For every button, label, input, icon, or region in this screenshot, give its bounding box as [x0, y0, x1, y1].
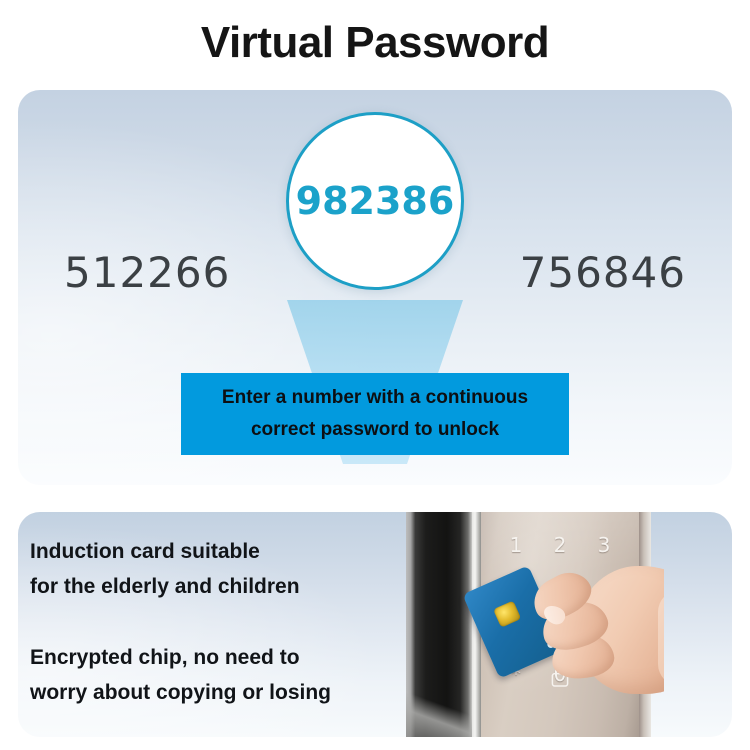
feature-2-line-1: Encrypted chip, no need to	[30, 640, 380, 675]
virtual-password-panel: 512266 756846 982386 Enter a number with…	[18, 90, 732, 485]
keypad-key-2[interactable]: 2	[538, 534, 582, 556]
keypad-key-3[interactable]: 3	[582, 534, 626, 556]
smart-lock-photo: 1 2 3 4 5 6 7 8 9 * 0	[406, 512, 664, 737]
wrist	[658, 590, 664, 686]
password-left-number: 512266	[64, 248, 230, 297]
instruction-line-2: correct password to unlock	[251, 414, 499, 446]
feature-encrypted-chip: Encrypted chip, no need to worry about c…	[30, 640, 380, 710]
password-center-number: 982386	[296, 179, 455, 223]
keypad-key-1[interactable]: 1	[494, 534, 538, 556]
lock-side-bezel	[406, 512, 472, 737]
chip-icon	[493, 600, 521, 627]
page-title: Virtual Password	[0, 16, 750, 70]
password-right-number: 756846	[520, 248, 686, 297]
feature-1-line-2: for the elderly and children	[30, 569, 380, 604]
password-highlight-circle: 982386	[286, 112, 464, 290]
induction-card-panel: Induction card suitable for the elderly …	[18, 512, 732, 737]
feature-2-line-2: worry about copying or losing	[30, 675, 380, 710]
feature-induction-card: Induction card suitable for the elderly …	[30, 534, 380, 604]
hand-holding-card	[526, 556, 664, 706]
instruction-banner: Enter a number with a continuous correct…	[181, 373, 569, 455]
instruction-line-1: Enter a number with a continuous	[222, 382, 528, 414]
feature-1-line-1: Induction card suitable	[30, 534, 380, 569]
